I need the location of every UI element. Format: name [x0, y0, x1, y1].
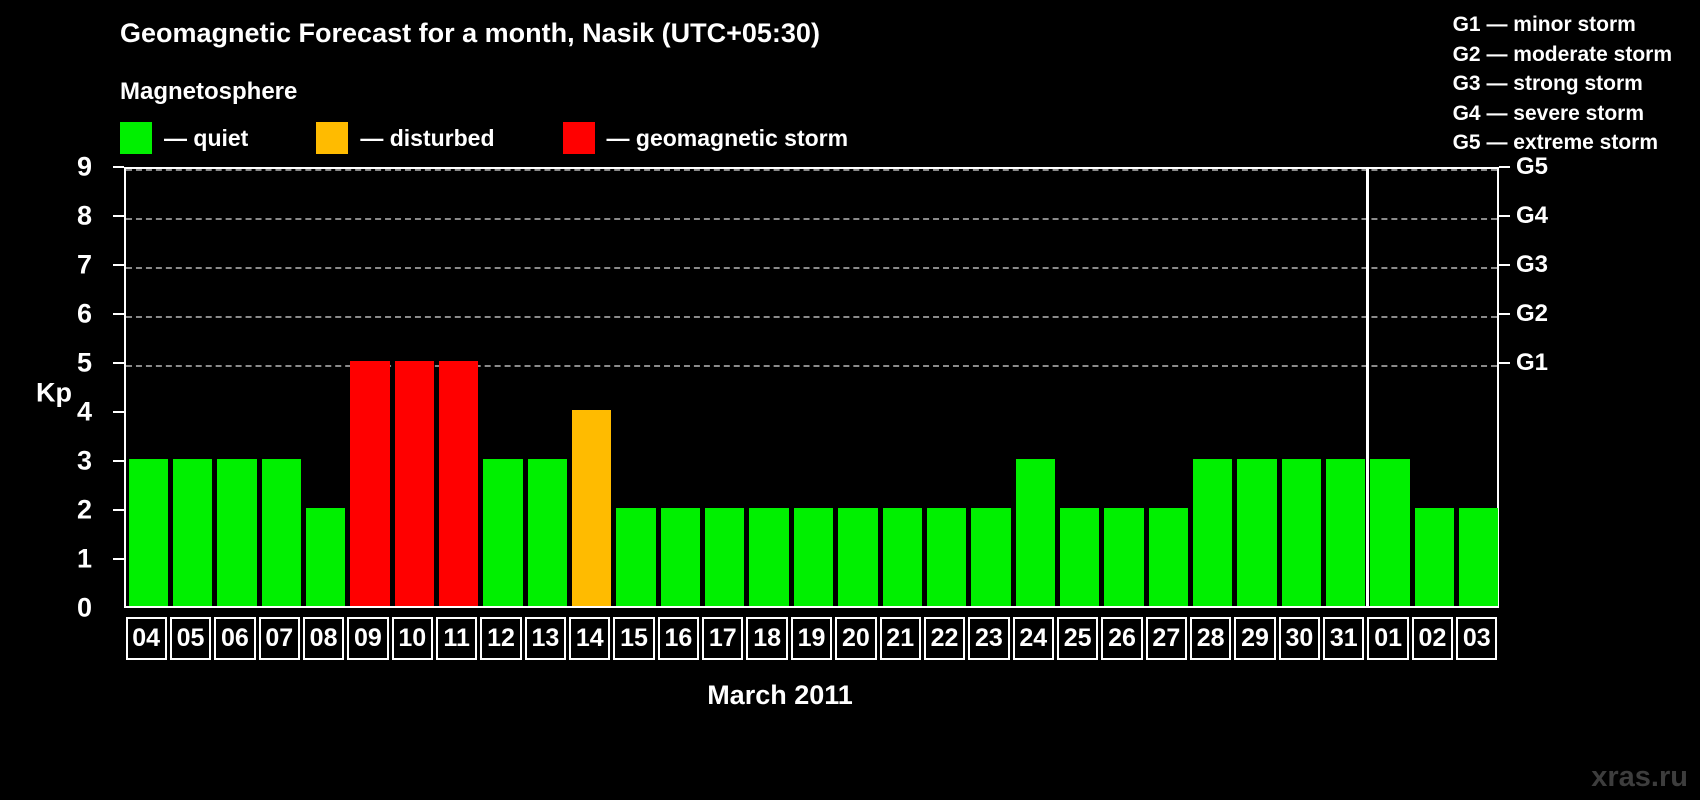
- day-label-17[interactable]: 17: [702, 617, 743, 660]
- day-label-09[interactable]: 09: [347, 617, 388, 660]
- day-label-20[interactable]: 20: [835, 617, 876, 660]
- g-tick-mark-g2: [1499, 313, 1510, 315]
- x-axis-day-labels: 0405060708091011121314151617181920212223…: [124, 617, 1499, 660]
- y-tick-label-5: 5: [52, 348, 92, 379]
- magnetosphere-label: Magnetosphere: [120, 78, 297, 106]
- bar-day-18[interactable]: [749, 508, 788, 606]
- g-tick-label-g2: G2: [1516, 300, 1548, 328]
- day-label-23[interactable]: 23: [968, 617, 1009, 660]
- storm-scale-legend: G1 — minor storm G2 — moderate storm G3 …: [1453, 10, 1672, 158]
- bar-day-14[interactable]: [572, 410, 611, 606]
- bar-day-23[interactable]: [971, 508, 1010, 606]
- day-label-15[interactable]: 15: [613, 617, 654, 660]
- day-label-28[interactable]: 28: [1190, 617, 1231, 660]
- bar-day-08[interactable]: [306, 508, 345, 606]
- legend-item-quiet: — quiet: [120, 122, 248, 154]
- legend-label-quiet: — quiet: [164, 125, 248, 152]
- day-label-26[interactable]: 26: [1101, 617, 1142, 660]
- y-tick-label-1: 1: [52, 544, 92, 575]
- day-label-27[interactable]: 27: [1146, 617, 1187, 660]
- storm-scale-row-g3: G3 — strong storm: [1453, 69, 1672, 99]
- bar-day-25[interactable]: [1060, 508, 1099, 606]
- bar-day-07[interactable]: [262, 459, 301, 606]
- y-tick-label-0: 0: [52, 593, 92, 624]
- day-label-22[interactable]: 22: [924, 617, 965, 660]
- day-label-25[interactable]: 25: [1057, 617, 1098, 660]
- y-tick-label-2: 2: [52, 495, 92, 526]
- bar-day-10[interactable]: [395, 361, 434, 606]
- bar-day-05[interactable]: [173, 459, 212, 606]
- y-tick-mark-8: [113, 215, 124, 217]
- bar-day-26[interactable]: [1104, 508, 1143, 606]
- y-tick-label-9: 9: [52, 152, 92, 183]
- g-tick-label-g3: G3: [1516, 251, 1548, 279]
- y-tick-mark-9: [113, 166, 124, 168]
- legend-swatch-quiet-icon: [120, 122, 152, 154]
- legend-item-disturbed: — disturbed: [316, 122, 494, 154]
- bar-day-31[interactable]: [1326, 459, 1365, 606]
- day-label-05[interactable]: 05: [170, 617, 211, 660]
- day-label-10[interactable]: 10: [392, 617, 433, 660]
- bar-day-29[interactable]: [1237, 459, 1276, 606]
- g-tick-label-g1: G1: [1516, 349, 1548, 377]
- g-tick-label-g4: G4: [1516, 202, 1548, 230]
- legend-swatch-storm-icon: [563, 122, 595, 154]
- storm-scale-row-g4: G4 — severe storm: [1453, 99, 1672, 129]
- day-label-01[interactable]: 01: [1367, 617, 1408, 660]
- legend-item-storm: — geomagnetic storm: [563, 122, 849, 154]
- day-label-12[interactable]: 12: [480, 617, 521, 660]
- y-tick-mark-7: [113, 264, 124, 266]
- day-label-11[interactable]: 11: [436, 617, 477, 660]
- g-tick-mark-g1: [1499, 362, 1510, 364]
- day-label-16[interactable]: 16: [658, 617, 699, 660]
- day-label-21[interactable]: 21: [880, 617, 921, 660]
- y-tick-mark-5: [113, 362, 124, 364]
- y-tick-mark-2: [113, 509, 124, 511]
- y-axis-title: Kp: [36, 378, 72, 409]
- day-label-08[interactable]: 08: [303, 617, 344, 660]
- day-label-29[interactable]: 29: [1234, 617, 1275, 660]
- bar-day-06[interactable]: [217, 459, 256, 606]
- day-label-24[interactable]: 24: [1013, 617, 1054, 660]
- g-tick-mark-g4: [1499, 215, 1510, 217]
- y-tick-label-3: 3: [52, 446, 92, 477]
- bar-day-01[interactable]: [1370, 459, 1409, 606]
- legend-swatch-disturbed-icon: [316, 122, 348, 154]
- bar-day-03[interactable]: [1459, 508, 1498, 606]
- bar-day-19[interactable]: [794, 508, 833, 606]
- y-tick-label-6: 6: [52, 299, 92, 330]
- day-label-30[interactable]: 30: [1279, 617, 1320, 660]
- storm-scale-row-g5: G5 — extreme storm: [1453, 128, 1672, 158]
- bar-day-11[interactable]: [439, 361, 478, 606]
- x-axis-title: March 2011: [0, 680, 1560, 711]
- bar-day-28[interactable]: [1193, 459, 1232, 606]
- bar-day-21[interactable]: [883, 508, 922, 606]
- y-tick-label-8: 8: [52, 201, 92, 232]
- g-tick-mark-g3: [1499, 264, 1510, 266]
- bar-day-27[interactable]: [1149, 508, 1188, 606]
- legend-label-storm: — geomagnetic storm: [607, 125, 849, 152]
- bar-day-12[interactable]: [483, 459, 522, 606]
- bar-day-13[interactable]: [528, 459, 567, 606]
- chart-plot-area: [124, 167, 1499, 608]
- day-label-04[interactable]: 04: [126, 617, 167, 660]
- bar-day-17[interactable]: [705, 508, 744, 606]
- g-tick-mark-g5: [1499, 166, 1510, 168]
- day-label-06[interactable]: 06: [214, 617, 255, 660]
- legend-label-disturbed: — disturbed: [360, 125, 494, 152]
- chart-bars: [126, 169, 1497, 606]
- bar-day-22[interactable]: [927, 508, 966, 606]
- bar-day-20[interactable]: [838, 508, 877, 606]
- storm-scale-row-g2: G2 — moderate storm: [1453, 40, 1672, 70]
- day-label-13[interactable]: 13: [525, 617, 566, 660]
- y-tick-mark-6: [113, 313, 124, 315]
- watermark: xras.ru: [1591, 761, 1688, 794]
- legend: — quiet — disturbed — geomagnetic storm: [120, 122, 848, 154]
- day-label-07[interactable]: 07: [259, 617, 300, 660]
- day-label-18[interactable]: 18: [746, 617, 787, 660]
- bar-day-04[interactable]: [129, 459, 168, 606]
- day-label-02[interactable]: 02: [1412, 617, 1453, 660]
- bar-day-15[interactable]: [616, 508, 655, 606]
- bar-day-16[interactable]: [661, 508, 700, 606]
- bar-day-02[interactable]: [1415, 508, 1454, 606]
- bar-day-09[interactable]: [350, 361, 389, 606]
- day-label-31[interactable]: 31: [1323, 617, 1364, 660]
- day-label-14[interactable]: 14: [569, 617, 610, 660]
- day-label-19[interactable]: 19: [791, 617, 832, 660]
- y-tick-mark-1: [113, 558, 124, 560]
- page-title: Geomagnetic Forecast for a month, Nasik …: [120, 18, 820, 49]
- y-tick-mark-3: [113, 460, 124, 462]
- storm-scale-row-g1: G1 — minor storm: [1453, 10, 1672, 40]
- y-tick-label-7: 7: [52, 250, 92, 281]
- g-tick-label-g5: G5: [1516, 153, 1548, 181]
- y-tick-mark-4: [113, 411, 124, 413]
- bar-day-30[interactable]: [1282, 459, 1321, 606]
- day-label-03[interactable]: 03: [1456, 617, 1497, 660]
- bar-day-24[interactable]: [1016, 459, 1055, 606]
